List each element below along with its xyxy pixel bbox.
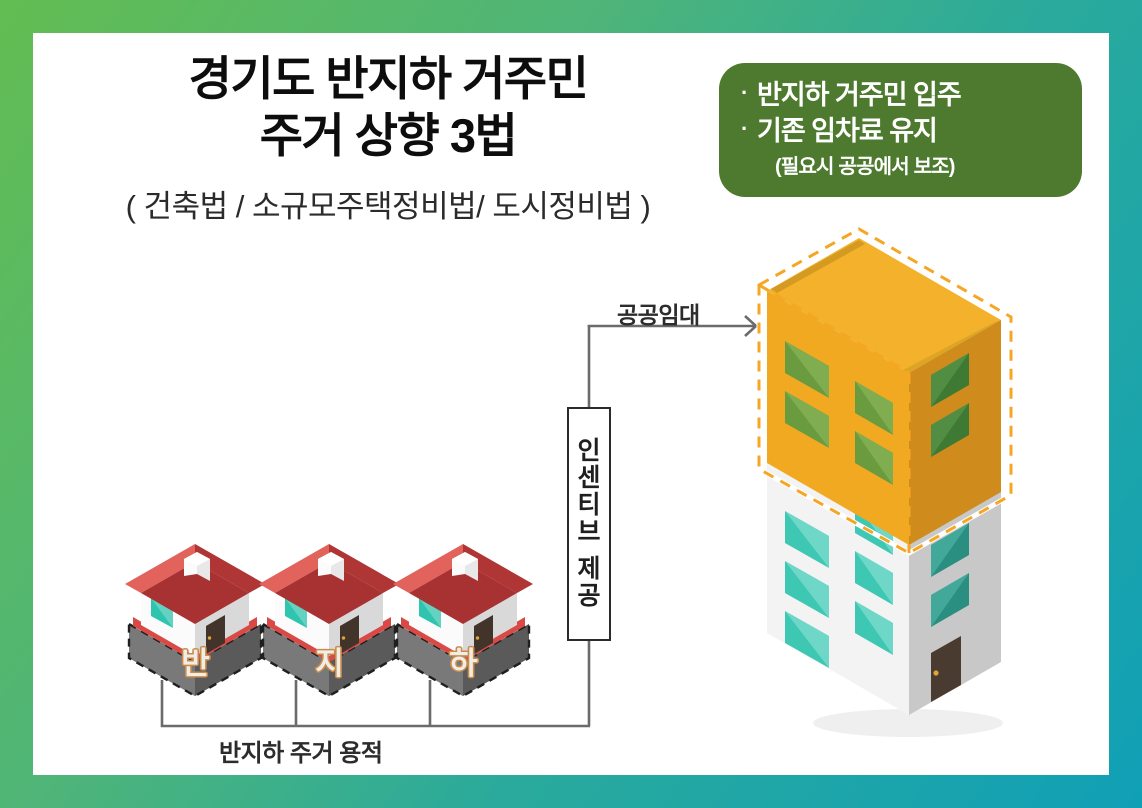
title-subtitle: ( 건축법 / 소규모주택정비법/ 도시정비법 )	[63, 181, 713, 226]
incentive-char: 인	[577, 438, 600, 465]
badge-note: (필요시 공공에서 보조)	[741, 150, 1064, 179]
badge-bullet-label: 반지하 거주민 입주	[757, 77, 961, 113]
badge-bullet-item: · 기존 임차료 유지	[741, 113, 1064, 149]
house-illustration: 하	[383, 516, 543, 696]
badge-bullet-label: 기존 임차료 유지	[757, 113, 937, 149]
incentive-box: 인 센 티 브 제 공	[567, 407, 611, 641]
door-knob-icon	[208, 636, 211, 639]
page-title: 경기도 반지하 거주민 주거 상향 3법 ( 건축법 / 소규모주택정비법/ 도…	[63, 50, 713, 226]
benefits-badge: · 반지하 거주민 입주 · 기존 임차료 유지 (필요시 공공에서 보조)	[719, 63, 1082, 197]
basement-volume-caption: 반지하 주거 용적	[219, 733, 382, 768]
badge-bullet-item: · 반지하 거주민 입주	[741, 77, 1064, 113]
incentive-char: 제	[577, 556, 600, 583]
door-knob-icon	[476, 636, 479, 639]
public-rental-label: 공공임대	[617, 296, 700, 330]
incentive-char: 센	[577, 465, 600, 492]
bullet-dot-icon: ·	[741, 77, 757, 109]
infographic-inner-card: 경기도 반지하 거주민 주거 상향 3법 ( 건축법 / 소규모주택정비법/ 도…	[33, 33, 1109, 775]
title-line-1: 경기도 반지하 거주민	[63, 50, 713, 107]
door-knob-icon	[933, 670, 938, 675]
door-knob-icon	[342, 636, 345, 639]
bullet-dot-icon: ·	[741, 113, 757, 145]
incentive-char: 티	[577, 492, 600, 519]
infographic-canvas: 경기도 반지하 거주민 주거 상향 3법 ( 건축법 / 소규모주택정비법/ 도…	[0, 0, 1142, 808]
incentive-char: 브	[577, 519, 600, 546]
incentive-char: 공	[577, 583, 600, 610]
apartment-illustration	[733, 223, 1063, 743]
title-line-2: 주거 상향 3법	[63, 107, 713, 164]
